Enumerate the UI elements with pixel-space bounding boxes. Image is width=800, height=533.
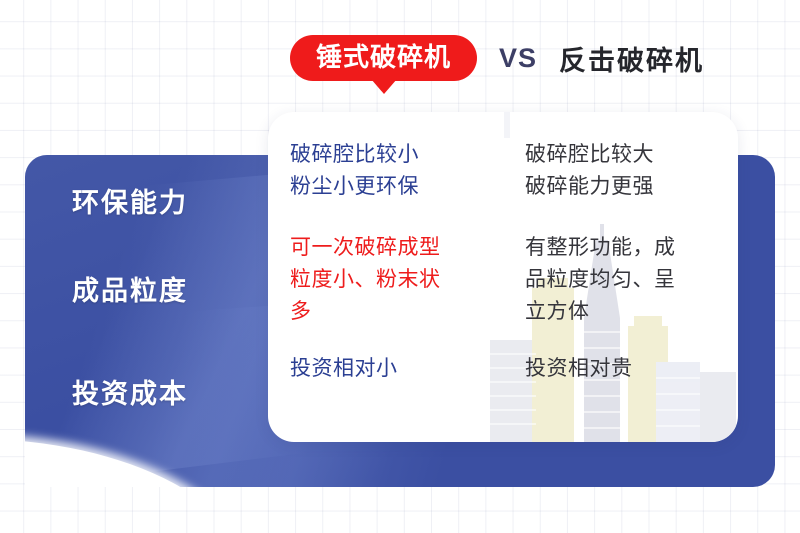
vs-label: VS	[495, 43, 541, 74]
column-impact-crusher: 破碎腔比较大 破碎能力更强 有整形功能，成 品粒度均匀、呈 立方体 投资相对贵	[503, 139, 738, 442]
cell-right-environmental: 破碎腔比较大 破碎能力更强	[525, 139, 720, 203]
cell-right-investment-cost: 投资相对贵	[525, 353, 720, 385]
badge-label: 锤式破碎机	[316, 42, 451, 72]
badge-pointer-icon	[371, 79, 397, 94]
comparison-card: 破碎腔比较小 粉尘小更环保 可一次破碎成型 粒度小、粉末状 多 投资相对小 破碎…	[268, 112, 738, 442]
row-label-environmental: 环保能力	[72, 190, 272, 217]
title-impact-crusher: 反击破碎机	[559, 39, 704, 78]
comparison-columns: 破碎腔比较小 粉尘小更环保 可一次破碎成型 粒度小、粉末状 多 投资相对小 破碎…	[268, 112, 738, 442]
row-label-particle-size: 成品粒度	[72, 278, 272, 305]
row-label-investment-cost: 投资成本	[72, 381, 272, 408]
column-hammer-crusher: 破碎腔比较小 粉尘小更环保 可一次破碎成型 粒度小、粉末状 多 投资相对小	[268, 139, 503, 442]
header: 锤式破碎机 VS 反击破碎机	[290, 30, 704, 86]
cell-left-particle-size: 可一次破碎成型 粒度小、粉末状 多	[290, 232, 485, 328]
cell-left-environmental: 破碎腔比较小 粉尘小更环保	[290, 139, 485, 203]
cell-right-particle-size: 有整形功能，成 品粒度均匀、呈 立方体	[525, 232, 720, 328]
cell-left-investment-cost: 投资相对小	[290, 353, 485, 385]
comparison-infographic: 环保能力 成品粒度 投资成本	[0, 0, 800, 533]
badge-hammer-crusher: 锤式破碎机	[290, 35, 477, 82]
